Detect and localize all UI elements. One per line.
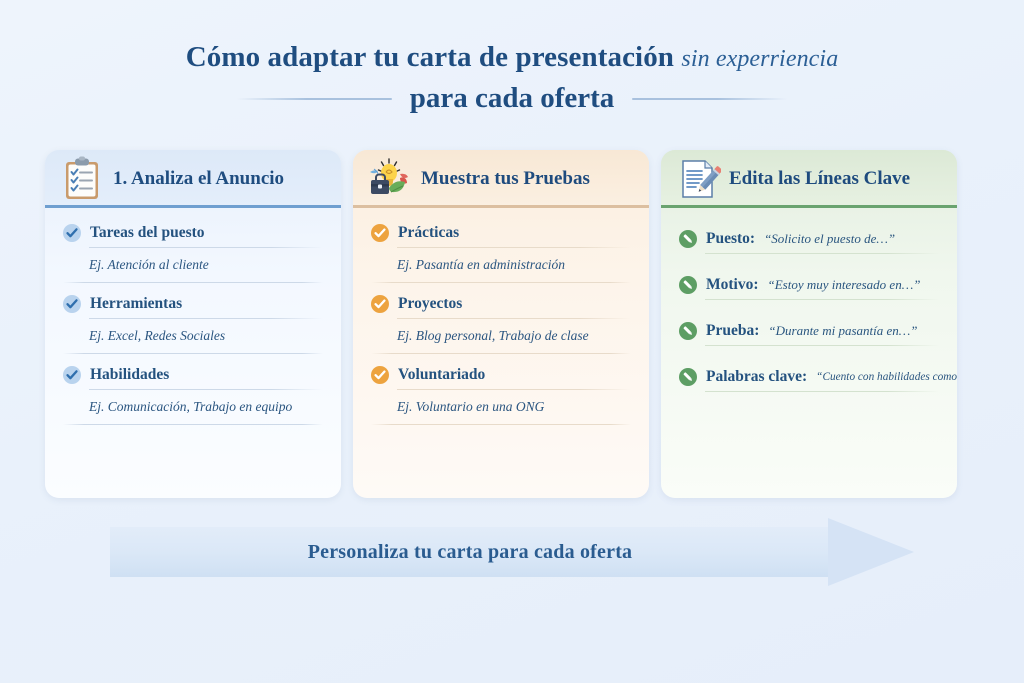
document-pencil-icon xyxy=(675,156,721,202)
page-title-line-1: Cómo adaptar tu carta de presentación si… xyxy=(0,40,1024,76)
list-item-example: Ej. Comunicación, Trabajo en equipo xyxy=(63,390,323,424)
page-title-line-2-row: para cada oferta xyxy=(0,82,1024,115)
card-header: Muestra tus Pruebas xyxy=(353,150,649,208)
list-item[interactable]: Voluntariado Ej. Voluntario en una ONG xyxy=(371,366,631,425)
list-item-quote: “Durante mi pasantía en…” xyxy=(768,323,917,339)
list-item-label: Voluntariado xyxy=(398,366,485,384)
list-item[interactable]: Proyectos Ej. Blog personal, Trabajo de … xyxy=(371,295,631,354)
list-item-example: Ej. Blog personal, Trabajo de clase xyxy=(371,319,631,353)
card-analiza-el-anuncio[interactable]: 1. Analiza el Anuncio Tareas del puesto … xyxy=(45,150,341,498)
card-body: Puesto: “Solicito el puesto de…” Motivo:… xyxy=(661,208,957,392)
list-item-header: Prueba: “Durante mi pasantía en…” xyxy=(679,322,939,345)
footer-arrow-text: Personaliza tu carta para cada oferta xyxy=(110,518,830,586)
lightbulb-briefcase-leaf-icon xyxy=(367,156,413,202)
pencil-circle-icon xyxy=(679,368,697,386)
check-circle-icon xyxy=(371,224,389,242)
title-rule-right-icon xyxy=(632,98,787,100)
card-header-rule xyxy=(661,205,957,208)
list-item-quote: “Estoy muy interesado en…” xyxy=(768,277,921,293)
divider xyxy=(371,424,631,425)
page-title-line-2: para cada oferta xyxy=(410,82,615,115)
divider xyxy=(371,353,631,354)
page-title-subtitle: sin experriencia xyxy=(681,46,838,72)
divider xyxy=(63,424,323,425)
list-item-header: Tareas del puesto xyxy=(63,224,323,247)
list-item[interactable]: Prácticas Ej. Pasantía en administración xyxy=(371,224,631,283)
list-item-label: Motivo: xyxy=(706,276,759,294)
list-item[interactable]: Palabras clave: “Cuento con habilidades … xyxy=(679,368,939,392)
list-item[interactable]: Puesto: “Solicito el puesto de…” xyxy=(679,230,939,254)
divider xyxy=(63,282,323,283)
list-item-quote: “Solicito el puesto de…” xyxy=(764,231,895,247)
list-item-example: Ej. Atención al cliente xyxy=(63,248,323,282)
card-body: Prácticas Ej. Pasantía en administración… xyxy=(353,208,649,425)
card-muestra-tus-pruebas[interactable]: Muestra tus Pruebas Prácticas Ej. Pasant… xyxy=(353,150,649,498)
list-item[interactable]: Prueba: “Durante mi pasantía en…” xyxy=(679,322,939,346)
check-circle-icon xyxy=(371,366,389,384)
divider xyxy=(705,391,939,392)
list-item-example: Ej. Pasantía en administración xyxy=(371,248,631,282)
list-item-example: Ej. Excel, Redes Sociales xyxy=(63,319,323,353)
list-item-label: Palabras clave: xyxy=(706,368,807,386)
check-circle-icon xyxy=(63,224,81,242)
pencil-circle-icon xyxy=(679,230,697,248)
card-header-rule xyxy=(353,205,649,208)
check-circle-icon xyxy=(63,366,81,384)
check-circle-icon xyxy=(63,295,81,313)
list-item[interactable]: Tareas del puesto Ej. Atención al client… xyxy=(63,224,323,283)
divider xyxy=(705,345,939,346)
pencil-circle-icon xyxy=(679,322,697,340)
pencil-circle-icon xyxy=(679,276,697,294)
list-item-header: Motivo: “Estoy muy interesado en…” xyxy=(679,276,939,299)
arrow-head-icon xyxy=(828,518,914,586)
card-body: Tareas del puesto Ej. Atención al client… xyxy=(45,208,341,425)
list-item-header: Prácticas xyxy=(371,224,631,247)
list-item-label: Tareas del puesto xyxy=(90,224,205,242)
card-title: Edita las Líneas Clave xyxy=(729,168,910,190)
list-item[interactable]: Herramientas Ej. Excel, Redes Sociales xyxy=(63,295,323,354)
divider xyxy=(371,282,631,283)
check-circle-icon xyxy=(371,295,389,313)
divider xyxy=(63,353,323,354)
card-header: Edita las Líneas Clave xyxy=(661,150,957,208)
card-title: 1. Analiza el Anuncio xyxy=(113,168,284,190)
list-item-label: Habilidades xyxy=(90,366,169,384)
list-item-header: Herramientas xyxy=(63,295,323,318)
card-title: Muestra tus Pruebas xyxy=(421,168,590,190)
card-header: 1. Analiza el Anuncio xyxy=(45,150,341,208)
clipboard-checklist-icon xyxy=(59,156,105,202)
list-item-label: Herramientas xyxy=(90,295,182,313)
list-item-header: Proyectos xyxy=(371,295,631,318)
list-item-quote: “Cuento con habilidades como…” xyxy=(816,371,957,383)
list-item-header: Voluntariado xyxy=(371,366,631,389)
card-edita-las-lineas-clave[interactable]: Edita las Líneas Clave Puesto: “Solicito… xyxy=(661,150,957,498)
list-item-header: Puesto: “Solicito el puesto de…” xyxy=(679,230,939,253)
list-item-label: Prueba: xyxy=(706,322,759,340)
list-item[interactable]: Habilidades Ej. Comunicación, Trabajo en… xyxy=(63,366,323,425)
title-rule-left-icon xyxy=(237,98,392,100)
page-title-bold: Cómo adaptar tu carta de presentación xyxy=(186,41,674,73)
list-item-label: Proyectos xyxy=(398,295,462,313)
page-title-block: Cómo adaptar tu carta de presentación si… xyxy=(0,0,1024,115)
list-item[interactable]: Motivo: “Estoy muy interesado en…” xyxy=(679,276,939,300)
list-item-example: Ej. Voluntario en una ONG xyxy=(371,390,631,424)
card-header-rule xyxy=(45,205,341,208)
divider xyxy=(705,253,939,254)
cards-container: 1. Analiza el Anuncio Tareas del puesto … xyxy=(45,150,979,498)
list-item-header: Palabras clave: “Cuento con habilidades … xyxy=(679,368,939,391)
divider xyxy=(705,299,939,300)
footer-arrow-banner: Personaliza tu carta para cada oferta xyxy=(110,518,915,586)
list-item-label: Puesto: xyxy=(706,230,755,248)
list-item-label: Prácticas xyxy=(398,224,459,242)
list-item-header: Habilidades xyxy=(63,366,323,389)
